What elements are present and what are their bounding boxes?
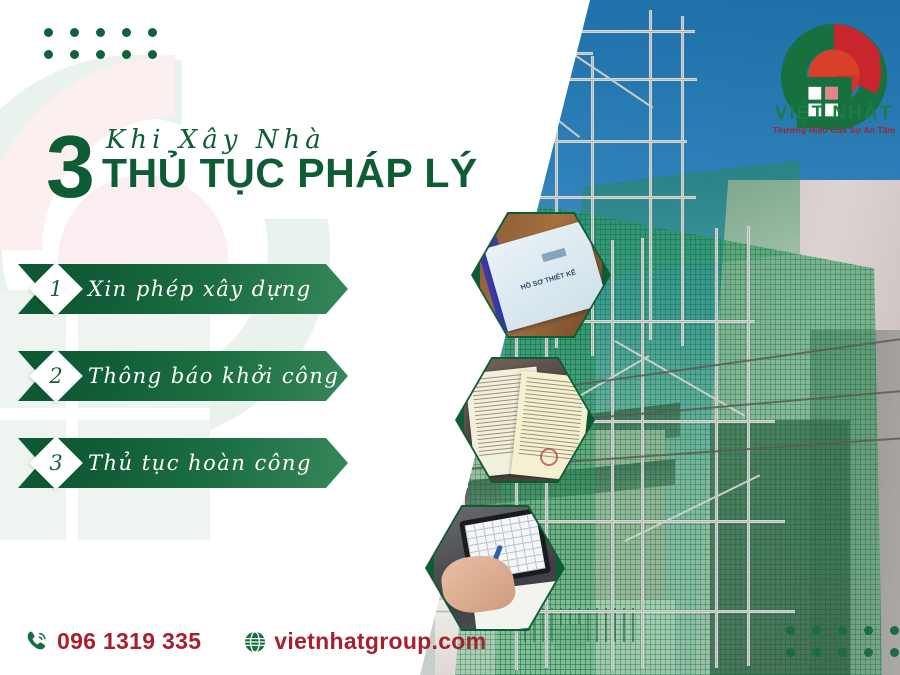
- step-number-badge: 2: [29, 349, 83, 403]
- logo-tagline: Thương Hiệu Của Sự An Tâm: [770, 125, 898, 135]
- globe-icon: [243, 630, 267, 654]
- step-number: 2: [37, 357, 75, 395]
- list-item[interactable]: 1 Xin phép xây dựng: [18, 264, 348, 314]
- logo-name: VIỆT NHẬT: [770, 104, 898, 123]
- website-contact[interactable]: vietnhatgroup.com: [243, 628, 486, 655]
- headline-number: 3: [46, 123, 95, 211]
- phone-call-icon: [24, 629, 50, 655]
- step-label: Thông báo khởi công: [88, 351, 339, 401]
- phone-contact[interactable]: 096 1319 335: [24, 628, 201, 655]
- contact-bar: 096 1319 335 vietnhatgroup.com: [24, 628, 486, 655]
- website-url: vietnhatgroup.com: [274, 628, 486, 655]
- step-label: Thủ tục hoàn công: [88, 438, 312, 488]
- step-number: 3: [37, 444, 75, 482]
- step-number-badge: 1: [29, 262, 83, 316]
- poster-canvas: HỒ SƠ THIẾT KẾ: [0, 0, 900, 675]
- logo-text: VIỆT NHẬT Thương Hiệu Của Sự An Tâm: [770, 104, 898, 135]
- headline-main: THỦ TỤC PHÁP LÝ: [102, 153, 478, 194]
- list-item[interactable]: 3 Thủ tục hoàn công: [18, 438, 348, 488]
- dot-grid-top-left: [44, 28, 157, 59]
- step-number: 1: [37, 270, 75, 308]
- phone-number: 096 1319 335: [57, 628, 201, 655]
- step-label: Xin phép xây dựng: [88, 264, 312, 314]
- step-number-badge: 3: [29, 436, 83, 490]
- dot-grid-bottom-right: [786, 626, 899, 657]
- list-item[interactable]: 2 Thông báo khởi công: [18, 351, 348, 401]
- steps-list: 1 Xin phép xây dựng 2 Thông báo khởi côn…: [18, 264, 348, 525]
